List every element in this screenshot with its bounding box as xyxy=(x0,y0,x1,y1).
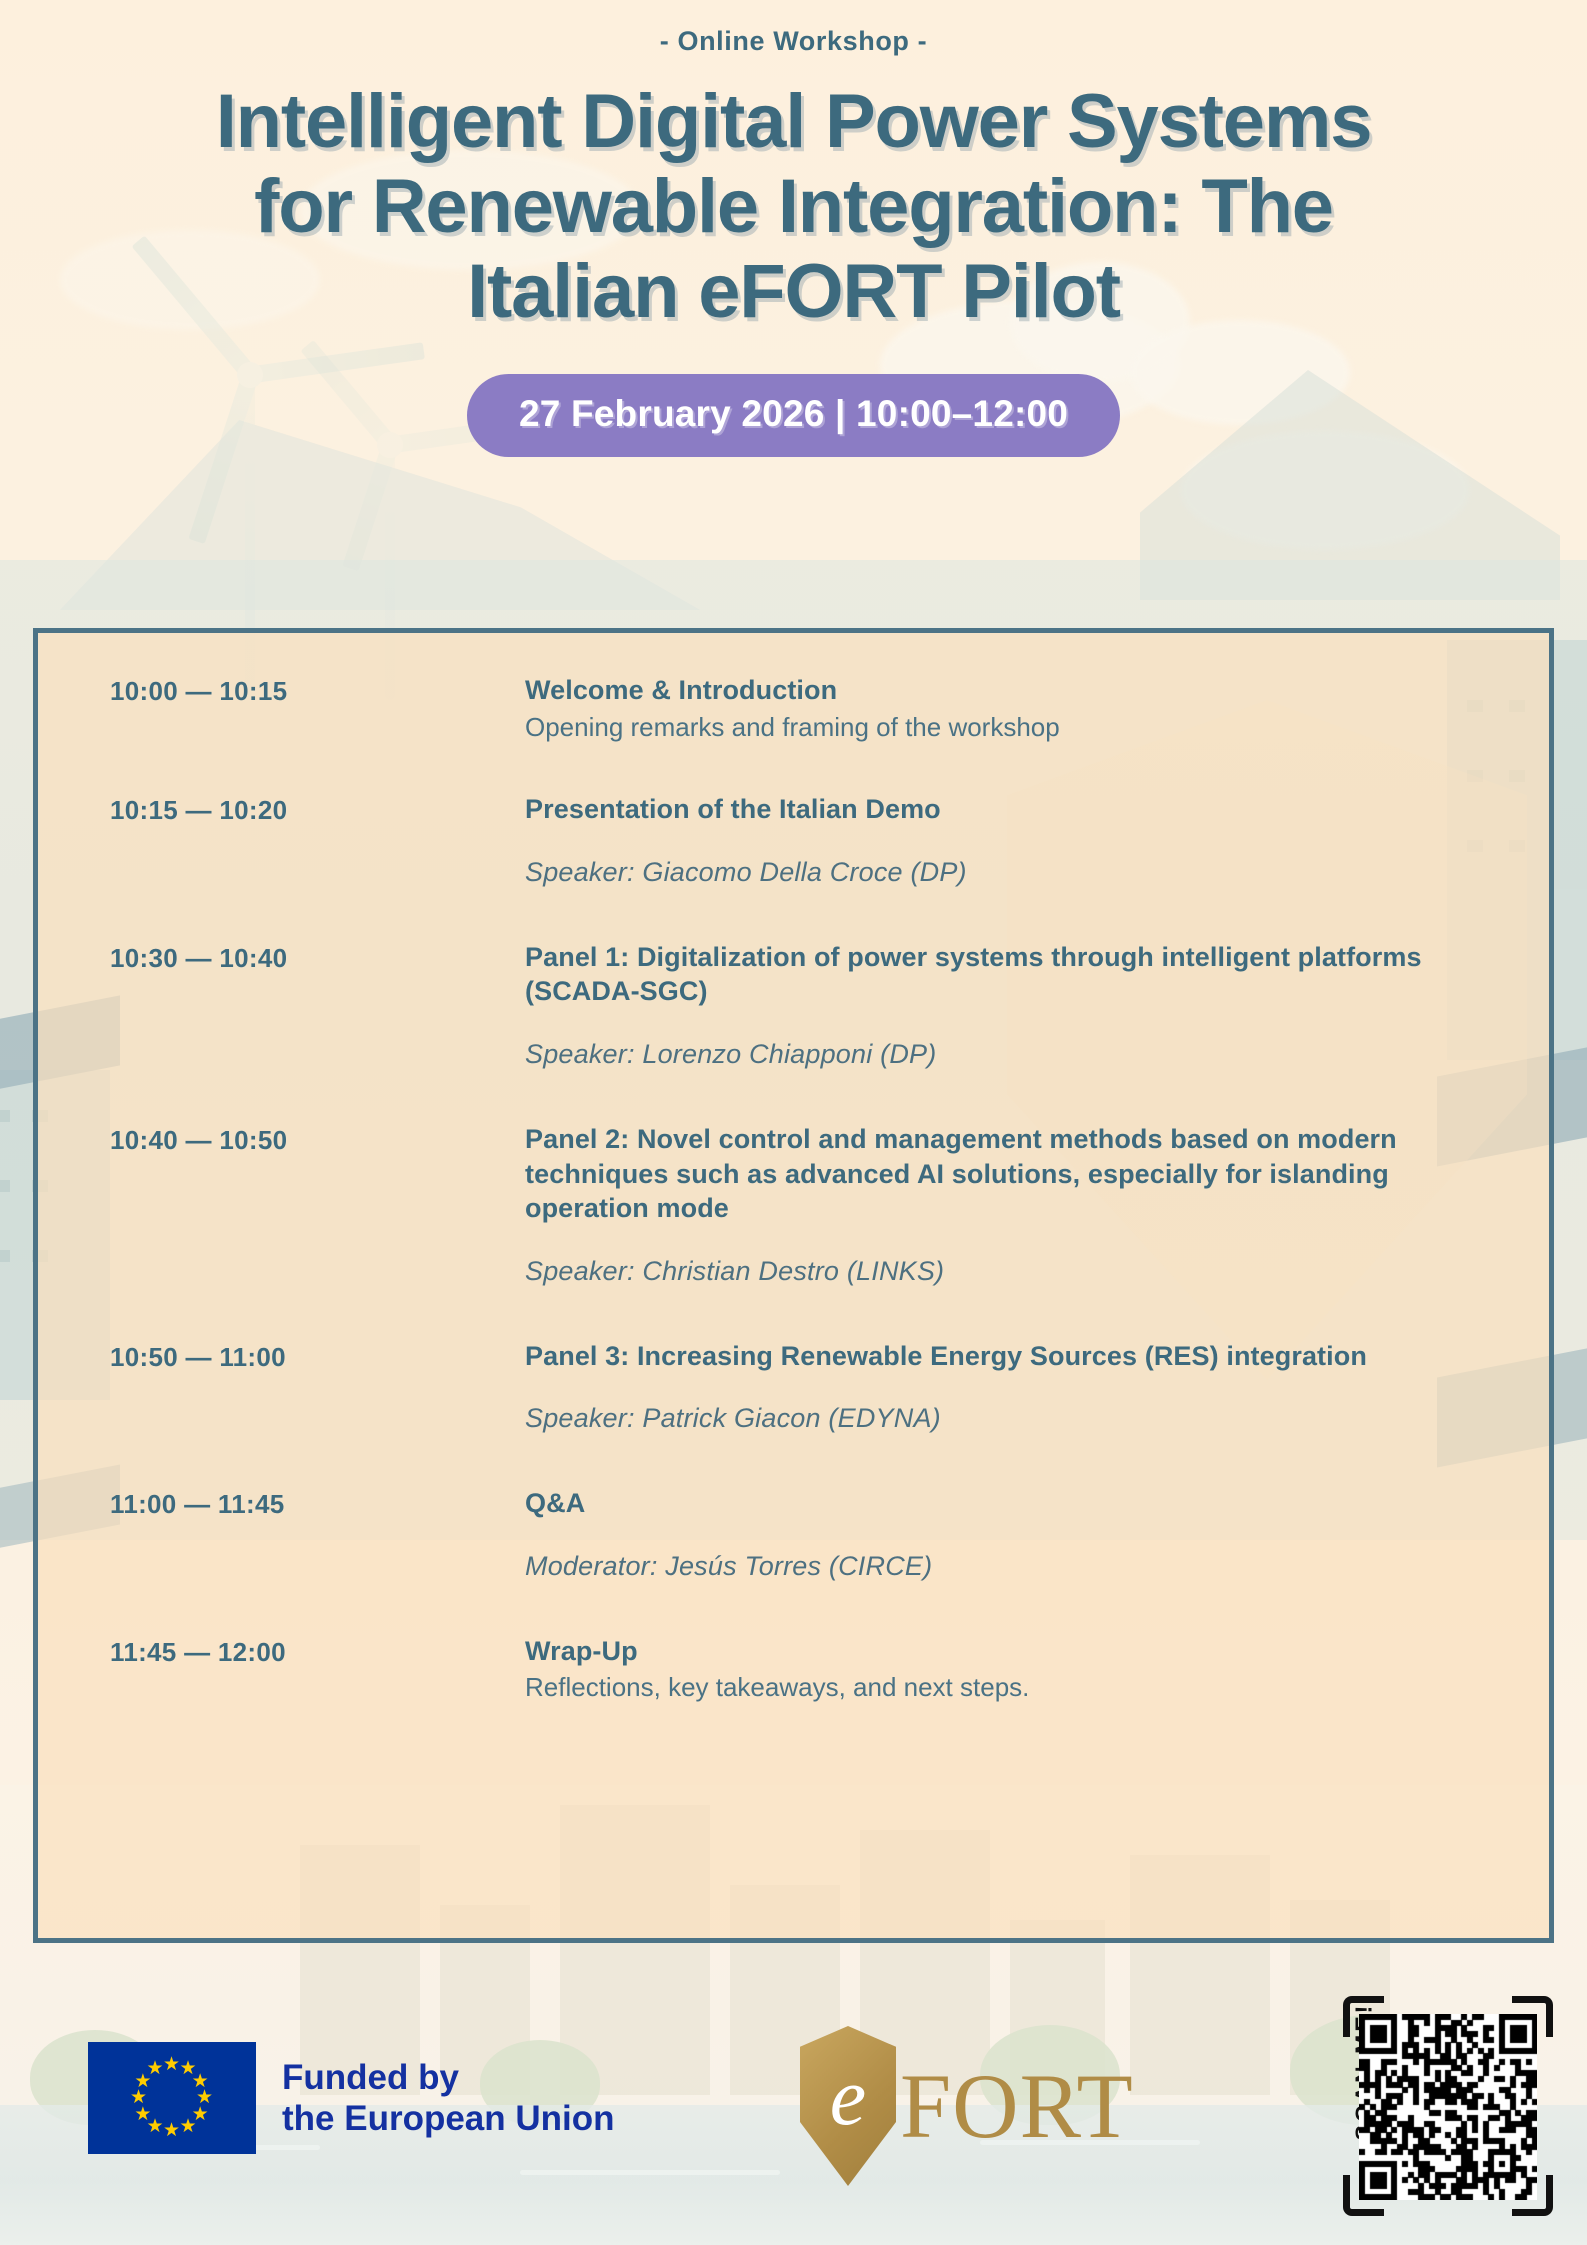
row-spacer xyxy=(110,744,1509,792)
poster-content: - Online Workshop - Intelligent Digital … xyxy=(0,0,1587,457)
agenda-row-time: 10:00 — 10:15 xyxy=(110,673,525,707)
agenda-list: 10:00 — 10:15 Welcome & Introduction Ope… xyxy=(38,633,1549,1705)
title-line-3: Italian eFORT Pilot xyxy=(60,249,1527,334)
agenda-row-headline: Q&A xyxy=(525,1486,1479,1521)
agenda-row-time: 10:30 — 10:40 xyxy=(110,940,525,974)
efort-logo-word: FORT xyxy=(900,2060,1134,2152)
agenda-row-speaker: Speaker: Christian Destro (LINKS) xyxy=(525,1256,1479,1287)
page-title: Intelligent Digital Power Systems for Re… xyxy=(60,79,1527,334)
eu-flag-icon: ★★★★★★★★★★★★ xyxy=(88,2042,256,2154)
qr-code-frame xyxy=(1345,1998,1551,2214)
eu-funding-block: ★★★★★★★★★★★★ Funded by the European Unio… xyxy=(88,2042,615,2154)
date-badge-wrap: 27 February 2026 | 10:00–12:00 xyxy=(0,374,1587,457)
title-line-2: for Renewable Integration: The xyxy=(60,164,1527,249)
agenda-row: 11:45 — 12:00 Wrap-Up Reflections, key t… xyxy=(110,1634,1509,1705)
date-time-badge: 27 February 2026 | 10:00–12:00 xyxy=(467,374,1120,457)
poster-footer: ★★★★★★★★★★★★ Funded by the European Unio… xyxy=(0,1990,1587,2220)
agenda-row: 11:00 — 11:45 Q&A Moderator: Jesús Torre… xyxy=(110,1486,1509,1582)
eu-funding-line-2: the European Union xyxy=(282,2098,615,2139)
qr-code-icon[interactable] xyxy=(1359,2014,1537,2200)
agenda-row: 10:50 — 11:00 Panel 3: Increasing Renewa… xyxy=(110,1339,1509,1435)
agenda-row-headline: Panel 1: Digitalization of power systems… xyxy=(525,940,1479,1009)
agenda-row-time: 11:00 — 11:45 xyxy=(110,1486,525,1520)
agenda-row-speaker: Speaker: Giacomo Della Croce (DP) xyxy=(525,857,1479,888)
agenda-row-time: 10:50 — 11:00 xyxy=(110,1339,525,1373)
row-spacer xyxy=(110,1287,1509,1339)
qr-code-block[interactable]: SCAN ME! xyxy=(1321,1998,1551,2214)
agenda-row-description: Opening remarks and framing of the works… xyxy=(525,711,1479,745)
eu-funding-text: Funded by the European Union xyxy=(282,2057,615,2140)
row-spacer xyxy=(110,1582,1509,1634)
title-line-1: Intelligent Digital Power Systems xyxy=(60,79,1527,164)
row-spacer xyxy=(110,888,1509,940)
agenda-row-speaker: Moderator: Jesús Torres (CIRCE) xyxy=(525,1551,1479,1582)
agenda-row-headline: Wrap-Up xyxy=(525,1634,1479,1669)
agenda-row-headline: Welcome & Introduction xyxy=(525,673,1479,708)
agenda-row-time: 11:45 — 12:00 xyxy=(110,1634,525,1668)
agenda-panel: 10:00 — 10:15 Welcome & Introduction Ope… xyxy=(33,628,1554,1943)
agenda-row: 10:15 — 10:20 Presentation of the Italia… xyxy=(110,792,1509,888)
agenda-row: 10:00 — 10:15 Welcome & Introduction Ope… xyxy=(110,673,1509,744)
shield-icon: e xyxy=(800,2026,896,2186)
efort-logo: e FORT xyxy=(800,2026,1134,2186)
agenda-row-description: Reflections, key takeaways, and next ste… xyxy=(525,1671,1479,1705)
agenda-row-speaker: Speaker: Patrick Giacon (EDYNA) xyxy=(525,1403,1479,1434)
agenda-row-speaker: Speaker: Lorenzo Chiapponi (DP) xyxy=(525,1039,1479,1070)
row-spacer xyxy=(110,1434,1509,1486)
agenda-row: 10:40 — 10:50 Panel 2: Novel control and… xyxy=(110,1122,1509,1287)
agenda-row-headline: Panel 2: Novel control and management me… xyxy=(525,1122,1479,1226)
efort-logo-letter: e xyxy=(800,2056,896,2138)
agenda-row-time: 10:15 — 10:20 xyxy=(110,792,525,826)
agenda-row-headline: Presentation of the Italian Demo xyxy=(525,792,1479,827)
agenda-row-headline: Panel 3: Increasing Renewable Energy Sou… xyxy=(525,1339,1479,1374)
agenda-row-time: 10:40 — 10:50 xyxy=(110,1122,525,1156)
workshop-poster: - Online Workshop - Intelligent Digital … xyxy=(0,0,1587,2245)
row-spacer xyxy=(110,1070,1509,1122)
eyebrow-label: - Online Workshop - xyxy=(0,0,1587,57)
eu-funding-line-1: Funded by xyxy=(282,2057,615,2098)
agenda-row: 10:30 — 10:40 Panel 1: Digitalization of… xyxy=(110,940,1509,1070)
